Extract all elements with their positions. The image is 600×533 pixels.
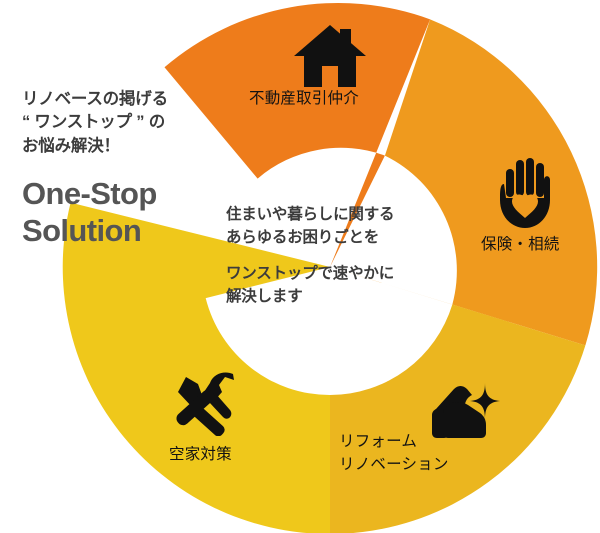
slice-label-vacant-house-line1: 空家対策 bbox=[169, 443, 232, 466]
page-title: One-Stop Solution bbox=[22, 176, 222, 249]
center-para2-line1: ワンストップで速やかに bbox=[226, 262, 456, 285]
headline-block: リノベースの掲げる “ ワンストップ ” の お悩み解決！ One-Stop S… bbox=[22, 88, 222, 249]
infographic-canvas: リノベースの掲げる “ ワンストップ ” の お悩み解決！ One-Stop S… bbox=[0, 0, 600, 533]
center-para1-line2: あらゆるお困りごとを bbox=[226, 226, 456, 249]
house-icon bbox=[294, 25, 366, 87]
slice-label-real-estate[interactable]: 不動産取引仲介 bbox=[249, 87, 359, 110]
hammer-wrench-icon bbox=[172, 372, 240, 436]
center-para2-line2: 解決します bbox=[226, 285, 456, 308]
lead-line-2: “ ワンストップ ” の bbox=[22, 111, 222, 134]
slice-label-real-estate-line1: 不動産取引仲介 bbox=[249, 87, 359, 110]
title-line-2: Solution bbox=[22, 213, 222, 250]
lead-line-3: お悩み解決！ bbox=[22, 135, 222, 158]
center-description: 住まいや暮らしに関する あらゆるお困りごとを ワンストップで速やかに 解決します bbox=[226, 203, 456, 308]
lead-line-1: リノベースの掲げる bbox=[22, 88, 222, 111]
hand-heart-icon bbox=[500, 158, 554, 228]
slice-label-reform-line2: リノベーション bbox=[339, 453, 449, 476]
slice-label-insurance-line1: 保険・相続 bbox=[481, 233, 560, 256]
slice-label-insurance[interactable]: 保険・相続 bbox=[481, 233, 560, 256]
slice-label-reform-line1: リフォーム bbox=[339, 430, 449, 453]
slice-label-vacant-house[interactable]: 空家対策 bbox=[169, 443, 232, 466]
slice-label-reform[interactable]: リフォーム リノベーション bbox=[339, 430, 449, 477]
center-para1-line1: 住まいや暮らしに関する bbox=[226, 203, 456, 226]
title-line-1: One-Stop bbox=[22, 176, 222, 213]
